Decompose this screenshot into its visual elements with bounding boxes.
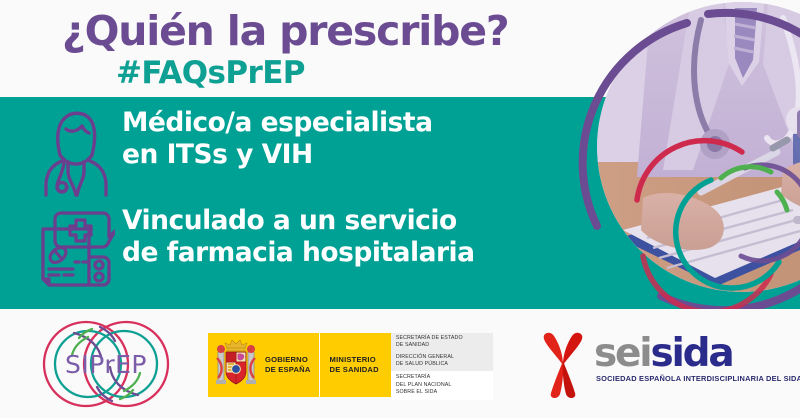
- seisida-logo: seisida SOCIEDAD ESPAÑOLA INTERDISCIPLIN…: [534, 329, 782, 401]
- bullet-line-2: de farmacia hospitalaria: [122, 237, 475, 269]
- seisida-sida: sida: [650, 331, 732, 376]
- bullet-line-2: en ITSs y VIH: [122, 139, 432, 171]
- photo-zone: [575, 0, 800, 322]
- red-ribbon-icon: [534, 331, 592, 399]
- seisida-subtitle: SOCIEDAD ESPAÑOLA INTERDISCIPLINARIA DEL…: [596, 374, 800, 383]
- bullet-text-specialist: Médico/a especialista en ITSs y VIH: [122, 105, 432, 172]
- ministerio-block: MINISTERIO DE SANIDAD: [320, 333, 391, 397]
- gobierno-block: GOBIERNO DE ESPAÑA: [208, 333, 319, 397]
- gobierno-line1: GOBIERNO: [265, 355, 311, 365]
- bullet-list: Médico/a especialista en ITSs y VIH: [0, 97, 580, 309]
- seisida-sei: sei: [594, 331, 650, 376]
- siprep-wordmark: SIPrEP: [65, 350, 147, 379]
- footer-logos: SIPrEP: [0, 309, 800, 418]
- doctor-stethoscope-icon: [30, 105, 122, 197]
- bullet-item-pharmacy: Vinculado a un servicio de farmacia hosp…: [30, 203, 475, 291]
- spain-coat-of-arms-icon: [214, 336, 258, 394]
- infographic-card: ¿Quién la prescribe? #FAQsPrEP: [0, 0, 800, 418]
- decorative-rings: [565, 0, 800, 331]
- hashtag-label: #FAQsPrEP: [116, 55, 305, 91]
- direccion-general-block: DIRECCIÓN GENERALDE SALUD PÚBLICA: [396, 352, 490, 371]
- page-title: ¿Quién la prescribe?: [62, 7, 508, 55]
- ministerio-label: MINISTERIO DE SANIDAD: [330, 355, 387, 375]
- siprep-logo: SIPrEP: [30, 317, 182, 411]
- gobierno-label: GOBIERNO DE ESPAÑA: [258, 355, 319, 375]
- gobierno-line2: DE ESPAÑA: [265, 365, 311, 375]
- bullet-text-pharmacy: Vinculado a un servicio de farmacia hosp…: [122, 203, 475, 270]
- prescription-pharmacy-icon: [30, 203, 122, 291]
- secretaria-estado-block: SECRETARÍA DE ESTADODE SANIDAD: [396, 332, 490, 351]
- plan-nacional-sida-block: SECRETARÍADEL PLAN NACIONALSOBRE EL SIDA: [391, 371, 493, 400]
- ministerio-line1: MINISTERIO: [330, 355, 379, 365]
- bullet-line-1: Médico/a especialista: [122, 107, 432, 139]
- gobierno-ministerio-logo: GOBIERNO DE ESPAÑA MINISTERIO DE SANIDAD…: [208, 333, 493, 397]
- ministerio-line2: DE SANIDAD: [330, 365, 379, 375]
- bullet-line-1: Vinculado a un servicio: [122, 205, 475, 237]
- seisida-wordmark: seisida: [594, 331, 732, 376]
- bullet-item-specialist: Médico/a especialista en ITSs y VIH: [30, 105, 432, 197]
- secretaria-blocks: SECRETARÍA DE ESTADODE SANIDAD DIRECCIÓN…: [391, 333, 493, 397]
